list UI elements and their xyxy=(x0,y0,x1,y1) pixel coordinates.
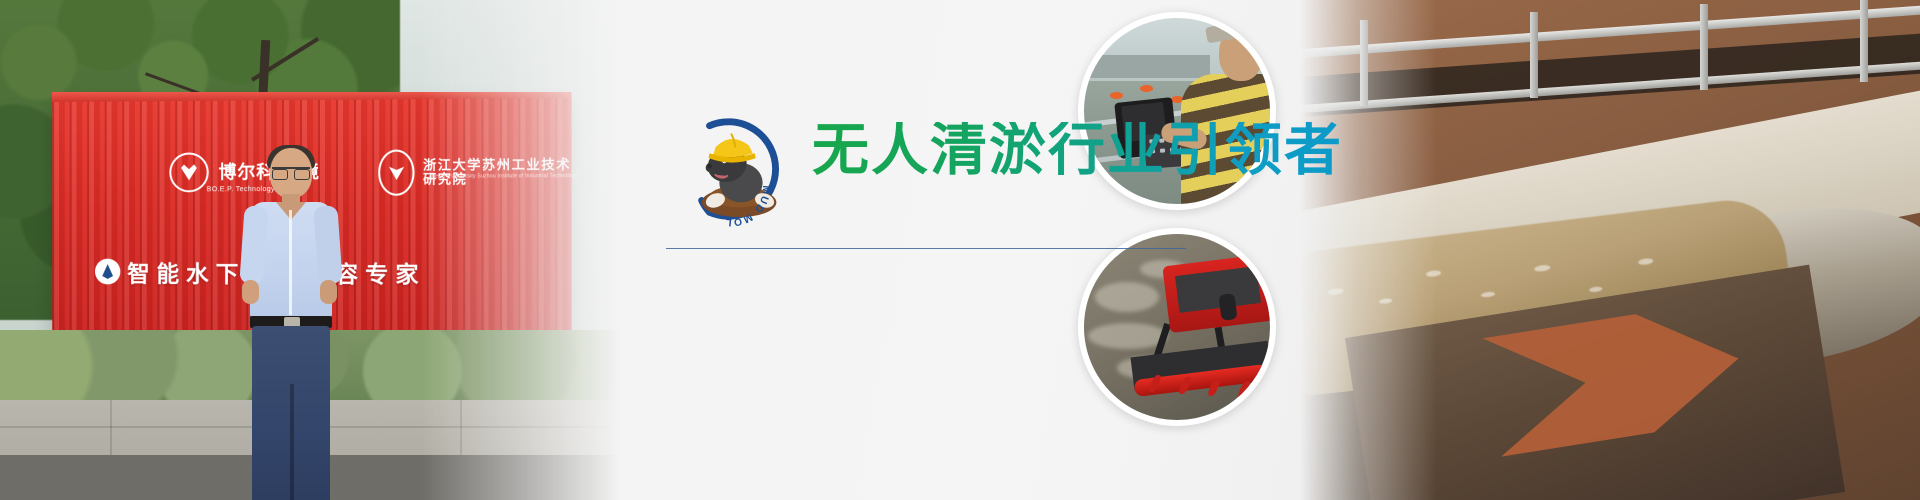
shirt-placket xyxy=(289,210,292,315)
logo-mole-nose xyxy=(707,164,712,169)
left-photo: 博尔科·环境 BO.E.P. Technology Co.,Ltd 浙江大学苏州… xyxy=(0,0,620,500)
headline-divider xyxy=(666,248,1186,249)
container-institute-en: Zhejiang University Suzhou Institute of … xyxy=(429,173,613,180)
person-hand-right xyxy=(320,280,337,304)
rail-post xyxy=(1700,4,1708,90)
institute-seal-icon xyxy=(378,149,415,195)
jeans-seam xyxy=(290,384,294,500)
center-content: MUD MOLE 无人清淤行业引领者 xyxy=(660,0,1220,500)
rail-post xyxy=(1530,12,1538,98)
mud-mole-logo[interactable]: MUD MOLE xyxy=(680,110,798,228)
person-engineer xyxy=(236,148,346,500)
rail-post xyxy=(1360,20,1368,106)
sludge-discharge-pipe-photo xyxy=(1300,0,1920,500)
person-arm-right xyxy=(313,205,342,284)
rail-post xyxy=(1860,0,1868,82)
eyeglasses-icon xyxy=(272,167,310,178)
brand-seal-icon xyxy=(169,152,208,192)
person-hand-left xyxy=(242,280,259,304)
hydraulic-cylinder xyxy=(1218,293,1237,321)
hero-banner: 博尔科·环境 BO.E.P. Technology Co.,Ltd 浙江大学苏州… xyxy=(0,0,1920,500)
headline: 无人清淤行业引领者 xyxy=(812,122,1343,179)
mud-mole-logo-svg: MUD MOLE xyxy=(680,110,798,228)
logo-hard-hat xyxy=(713,139,752,157)
slogan-badge-icon xyxy=(95,259,120,285)
